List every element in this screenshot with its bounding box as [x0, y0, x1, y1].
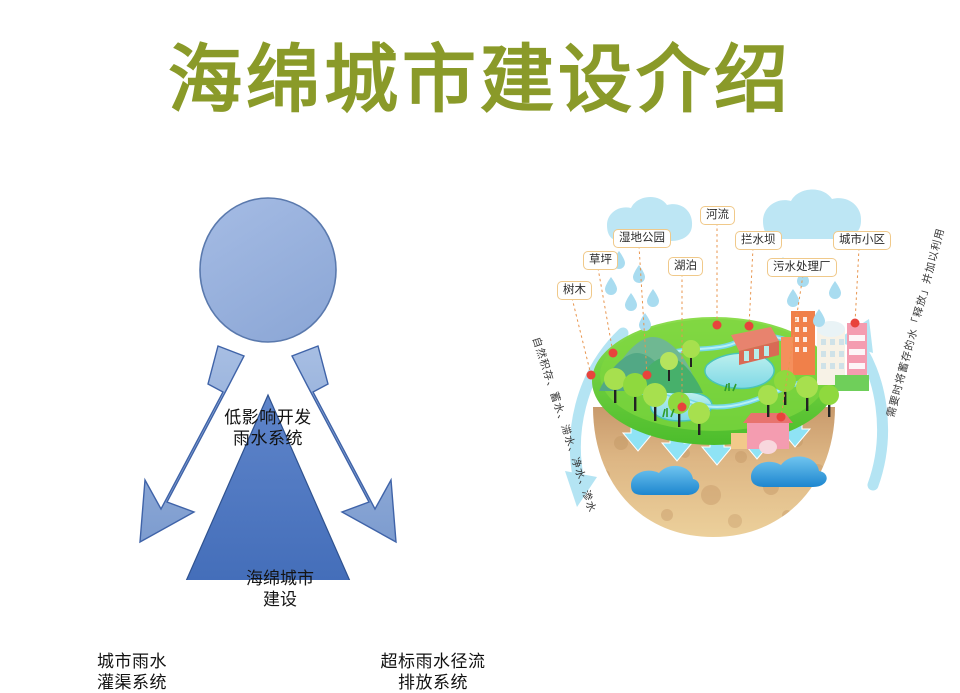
node-label-urban-stormwater-drainage: 城市雨水 灌渠系统: [62, 652, 202, 693]
callout-lake[interactable]: 湖泊: [668, 257, 703, 276]
slide-canvas: 海绵城市建设介绍: [0, 0, 960, 640]
sponge-city-triangle-diagram: 低影响开发 雨水系统 城市雨水 灌渠系统 超标雨水径流 排放系统 海绵城市 建设: [20, 180, 520, 580]
callout-lawn[interactable]: 草坪: [583, 251, 618, 270]
center-triangle: [168, 395, 368, 580]
callout-river[interactable]: 河流: [700, 206, 735, 225]
page-title: 海绵城市建设介绍: [0, 44, 960, 118]
node-low-impact-development[interactable]: [200, 198, 336, 342]
callout-dam[interactable]: 拦水坝: [735, 231, 782, 250]
node-label-excess-runoff-discharge: 超标雨水径流 排放系统: [358, 652, 508, 693]
center-triangle-label: 海绵城市 建设: [215, 568, 345, 611]
diagram-svg: [20, 180, 520, 580]
callout-wetland-park[interactable]: 湿地公园: [613, 229, 671, 248]
callout-sewage-plant[interactable]: 污水处理厂: [767, 258, 837, 277]
sponge-city-cross-section: 树木 草坪 湿地公园 湖泊 河流 拦水坝 污水处理厂 城市小区 自然积存、蓄水、…: [535, 185, 955, 585]
callout-trees[interactable]: 树木: [557, 281, 592, 300]
callout-city-district[interactable]: 城市小区: [833, 231, 891, 250]
